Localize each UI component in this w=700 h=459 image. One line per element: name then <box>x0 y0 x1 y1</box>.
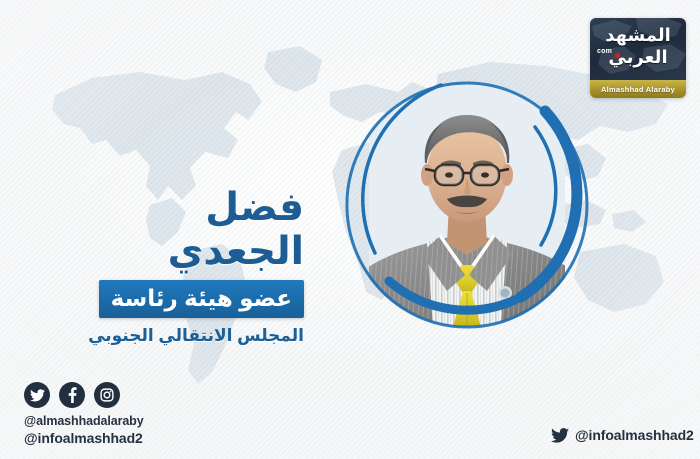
social-handles: @almashhadalaraby @infoalmashhad2 <box>24 414 144 447</box>
twitter-icon[interactable] <box>24 382 50 408</box>
portrait-ring <box>345 75 590 330</box>
headline-block: فضل الجعدي عضو هيئة رئاسة المجلس الانتقا… <box>88 186 304 346</box>
role-badge-label: عضو هيئة رئاسة <box>111 285 292 311</box>
handle-secondary[interactable]: @infoalmashhad2 <box>24 430 144 447</box>
organization-name: المجلس الانتقالي الجنوبي <box>88 325 304 346</box>
almashhad-alaraby-logo[interactable]: المشهد العربي com Almashhad Alaraby <box>590 18 686 98</box>
logo-arabic-line-1: المشهد <box>590 25 686 46</box>
social-icon-row <box>24 382 144 408</box>
footer-handle-label: @infoalmashhad2 <box>575 427 694 443</box>
logo-gold-bar: Almashhad Alaraby <box>590 80 686 98</box>
role-badge: عضو هيئة رئاسة <box>99 280 304 318</box>
logo-latin-name: Almashhad Alaraby <box>601 85 675 94</box>
facebook-icon[interactable] <box>59 382 85 408</box>
footer-twitter-handle[interactable]: @infoalmashhad2 <box>551 427 694 443</box>
logo-com-label: com <box>597 48 612 55</box>
instagram-icon[interactable] <box>94 382 120 408</box>
logo-top-panel: المشهد العربي com <box>590 18 686 80</box>
twitter-bird-icon <box>551 428 569 443</box>
portrait-container <box>345 75 590 330</box>
logo-red-dot <box>615 53 620 58</box>
handle-primary[interactable]: @almashhadalaraby <box>24 414 144 430</box>
news-graphic-card: المشهد العربي com Almashhad Alaraby <box>0 0 700 459</box>
person-name: فضل الجعدي <box>88 186 304 274</box>
social-block: @almashhadalaraby @infoalmashhad2 <box>24 382 144 447</box>
